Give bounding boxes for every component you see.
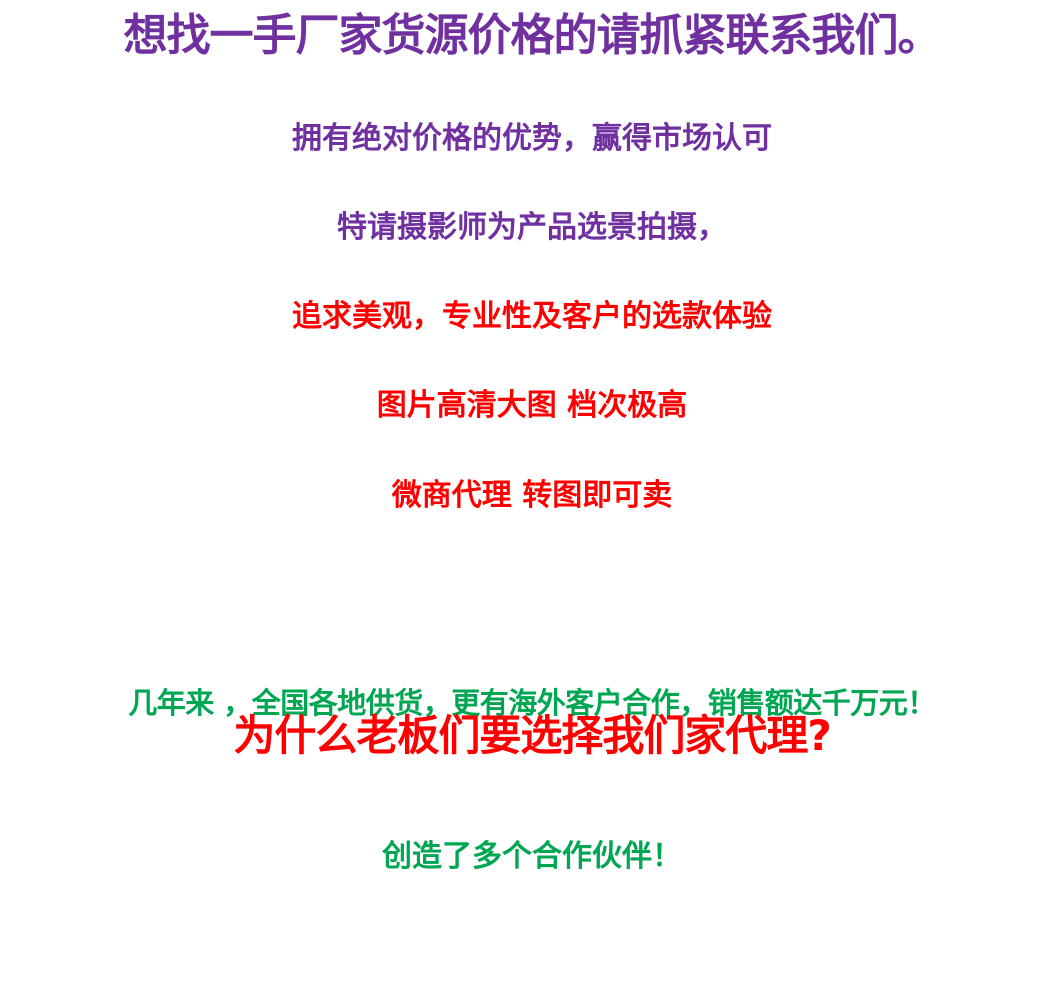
promo-poster: 想找一手厂家货源价格的请抓紧联系我们。 拥有绝对价格的优势，赢得市场认可 特请摄… bbox=[0, 0, 1064, 812]
poster-body-line-4: 图片高清大图 档次极高 bbox=[0, 391, 1064, 421]
poster-body-line-3: 追求美观，专业性及客户的选款体验 bbox=[0, 302, 1064, 332]
poster-closing-question: 为什么老板们要选择我们家代理? bbox=[0, 715, 1064, 757]
poster-headline: 想找一手厂家货源价格的请抓紧联系我们。 bbox=[0, 14, 1064, 58]
poster-green-line-2: 创造了多个合作伙伴！ bbox=[0, 831, 1064, 882]
poster-body-line-2: 特请摄影师为产品选景拍摄， bbox=[0, 213, 1064, 243]
poster-green-paragraph: 几年来 ，全国各地供货，更有海外客户合作，销售额达千万元！ 创造了多个合作伙伴！ bbox=[0, 576, 1064, 984]
poster-body-line-1: 拥有绝对价格的优势，赢得市场认可 bbox=[0, 124, 1064, 154]
poster-body-line-5: 微商代理 转图即可卖 bbox=[0, 481, 1064, 511]
